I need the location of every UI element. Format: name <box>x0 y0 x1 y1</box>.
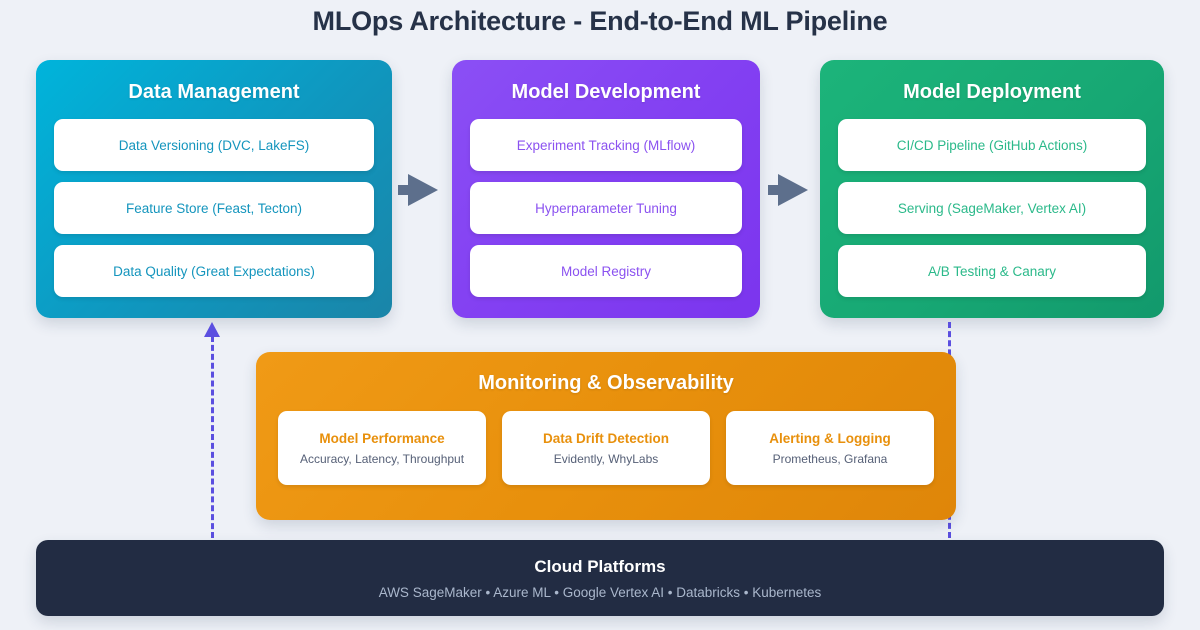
monitoring-title: Monitoring & Observability <box>278 372 934 395</box>
arrow-head <box>778 174 808 206</box>
panel-cloud-platforms: Cloud Platforms AWS SageMaker • Azure ML… <box>36 540 1164 616</box>
cloud-platforms-subtitle: AWS SageMaker • Azure ML • Google Vertex… <box>379 585 822 600</box>
stage-item[interactable]: Feature Store (Feast, Tecton) <box>54 182 374 234</box>
monitoring-card-title: Data Drift Detection <box>543 431 669 446</box>
monitoring-card-subtitle: Accuracy, Latency, Throughput <box>300 452 464 466</box>
diagram-canvas: MLOps Architecture - End-to-End ML Pipel… <box>0 0 1200 630</box>
monitoring-card-title: Alerting & Logging <box>769 431 890 446</box>
stage-title-model-development: Model Development <box>470 81 742 104</box>
stage-item[interactable]: Data Versioning (DVC, LakeFS) <box>54 119 374 171</box>
monitoring-card[interactable]: Model Performance Accuracy, Latency, Thr… <box>278 411 486 485</box>
monitoring-card-list: Model Performance Accuracy, Latency, Thr… <box>278 411 934 485</box>
stage-item[interactable]: Data Quality (Great Expectations) <box>54 245 374 297</box>
arrow-right-icon <box>768 174 812 206</box>
cloud-platforms-title: Cloud Platforms <box>534 557 665 577</box>
monitoring-card[interactable]: Alerting & Logging Prometheus, Grafana <box>726 411 934 485</box>
stage-model-deployment: Model Deployment CI/CD Pipeline (GitHub … <box>820 60 1164 318</box>
arrow-up-icon <box>204 322 220 337</box>
stage-item[interactable]: A/B Testing & Canary <box>838 245 1146 297</box>
arrow-right-icon <box>398 174 442 206</box>
feedback-to-data-management-line <box>211 336 214 538</box>
stage-item[interactable]: Model Registry <box>470 245 742 297</box>
stage-data-management: Data Management Data Versioning (DVC, La… <box>36 60 392 318</box>
stage-model-development: Model Development Experiment Tracking (M… <box>452 60 760 318</box>
stage-title-data-management: Data Management <box>54 81 374 104</box>
stage-item[interactable]: Experiment Tracking (MLflow) <box>470 119 742 171</box>
stage-title-model-deployment: Model Deployment <box>838 81 1146 104</box>
page-title: MLOps Architecture - End-to-End ML Pipel… <box>0 6 1200 37</box>
stage-item[interactable]: Serving (SageMaker, Vertex AI) <box>838 182 1146 234</box>
monitoring-card[interactable]: Data Drift Detection Evidently, WhyLabs <box>502 411 710 485</box>
monitoring-card-title: Model Performance <box>319 431 444 446</box>
monitoring-card-subtitle: Prometheus, Grafana <box>773 452 888 466</box>
monitoring-card-subtitle: Evidently, WhyLabs <box>554 452 659 466</box>
stage-item[interactable]: Hyperparameter Tuning <box>470 182 742 234</box>
panel-monitoring-observability: Monitoring & Observability Model Perform… <box>256 352 956 520</box>
stage-item[interactable]: CI/CD Pipeline (GitHub Actions) <box>838 119 1146 171</box>
arrow-head <box>408 174 438 206</box>
